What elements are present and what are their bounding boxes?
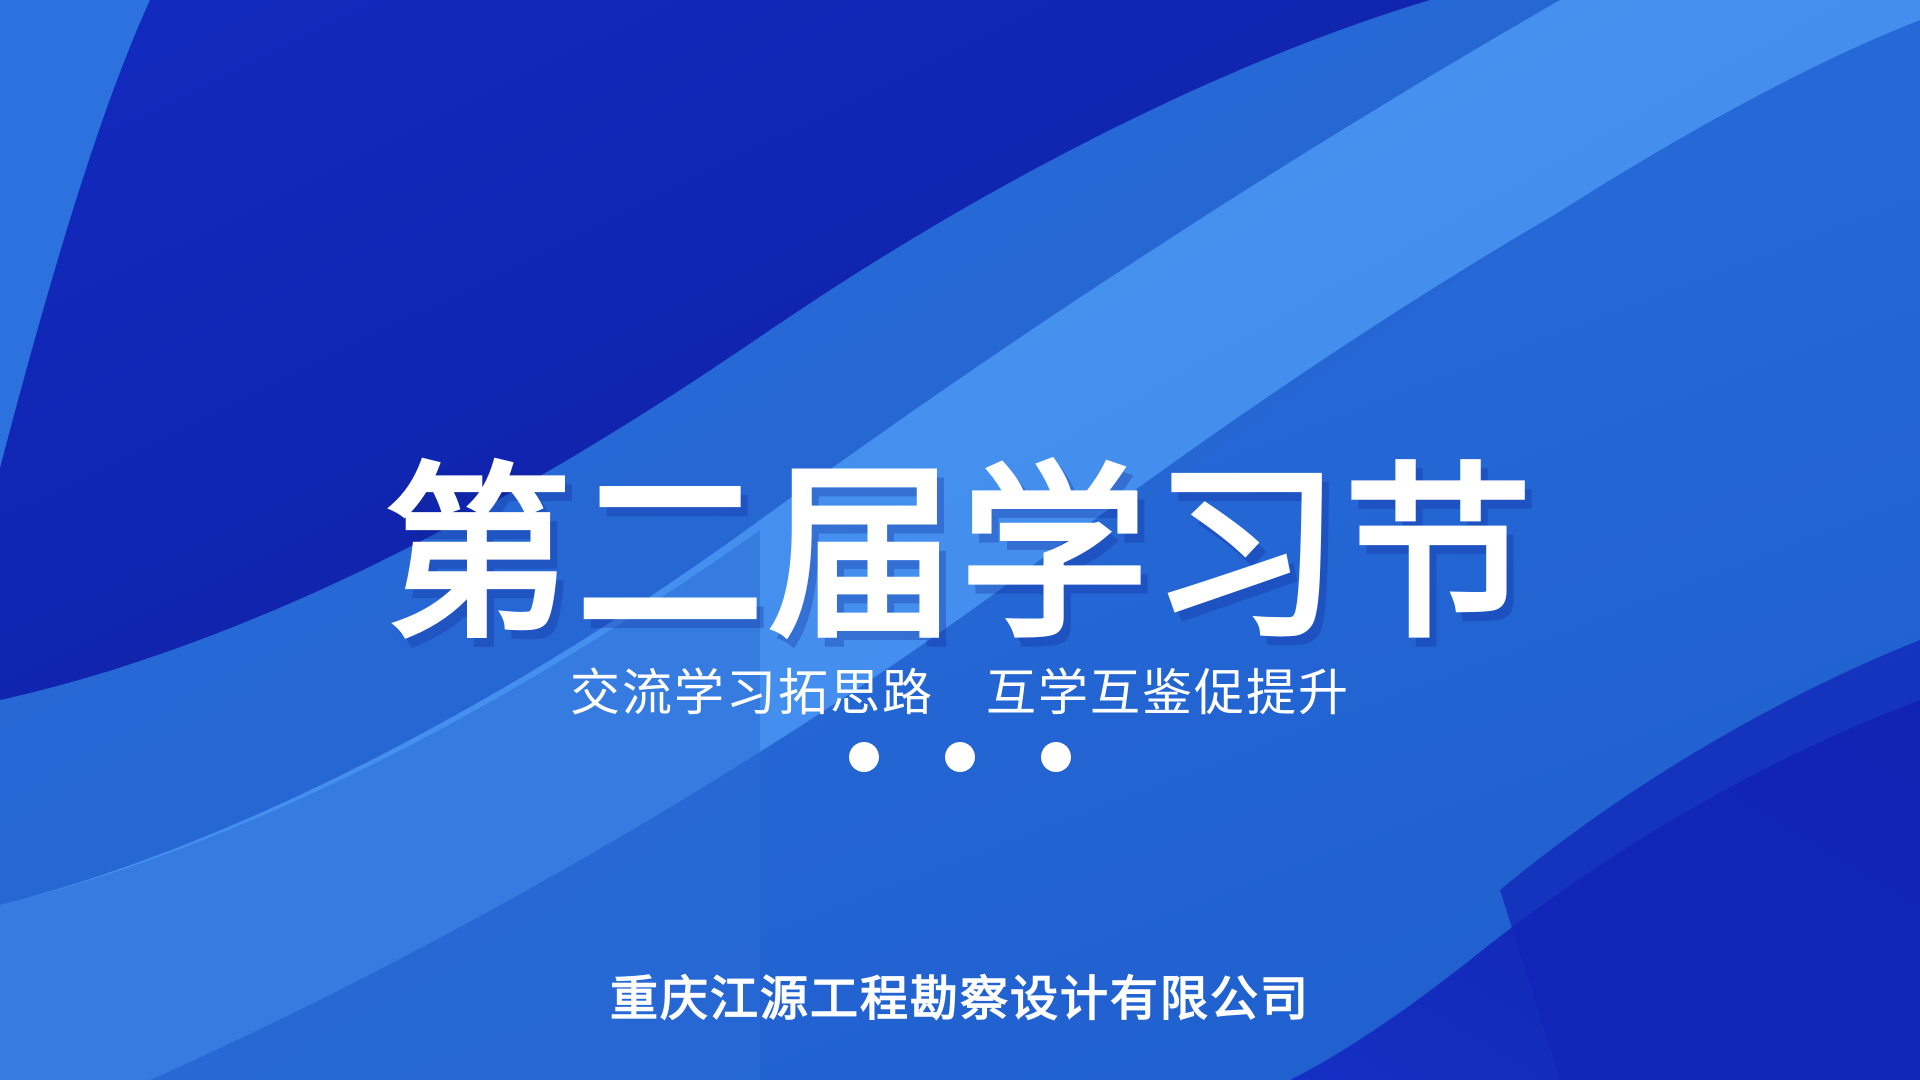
banner-title: 第二届学习节: [0, 458, 1920, 654]
company-name: 重庆江源工程勘察设计有限公司: [0, 968, 1920, 1030]
banner-subtitle: 交流学习拓思路 互学互鉴促提升: [0, 662, 1920, 725]
banner-content: 第二届学习节 交流学习拓思路 互学互鉴促提升 重庆江源工程勘察设计有限公司: [0, 0, 1920, 1080]
banner-canvas: 第二届学习节 交流学习拓思路 互学互鉴促提升 重庆江源工程勘察设计有限公司: [0, 0, 1920, 1080]
dot-icon: [1041, 742, 1071, 772]
dot-icon: [945, 742, 975, 772]
dot-icon: [849, 742, 879, 772]
dot-divider: [0, 742, 1920, 772]
